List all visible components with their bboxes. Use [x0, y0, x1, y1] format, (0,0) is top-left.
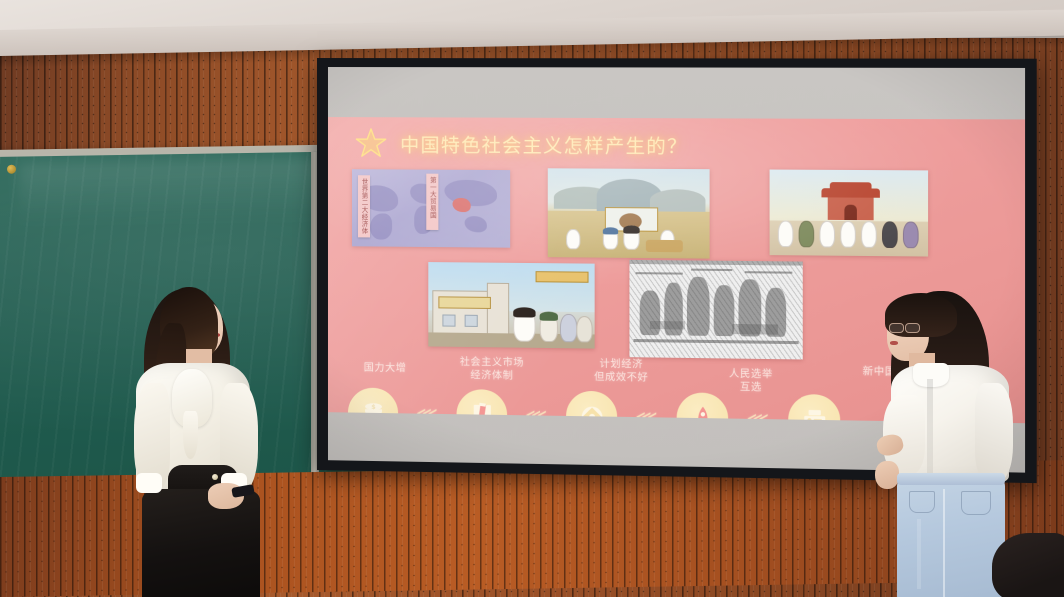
jeans-waistband: [897, 473, 1005, 485]
jeans-seam: [943, 489, 945, 597]
pipeline-arrow-4: ⋘: [741, 410, 772, 424]
slide-title: 中国特色社会主义怎样产生的？: [400, 130, 688, 159]
pipeline-step-5: [788, 394, 840, 423]
lips: [890, 341, 898, 345]
slide-caption-3: 计划经济 但成效不好: [570, 357, 672, 385]
jeans-pocket: [909, 491, 935, 513]
caption-line: 但成效不好: [570, 371, 672, 386]
blouse-bow-tail: [183, 411, 198, 459]
waistband-button: [212, 474, 218, 480]
caption-line: 经济体制: [436, 369, 547, 384]
slide-image-world-map: 世界第二大经济体 第一大贸易国: [352, 169, 510, 248]
slide-image-field-scene: [548, 168, 710, 258]
presenter-left: [120, 283, 285, 597]
slide-image-tiananmen-scene: [770, 170, 929, 257]
gesturing-hand-lower: [875, 461, 899, 489]
caption-line: 国力大增: [340, 361, 430, 375]
glasses-lens-left: [889, 323, 904, 333]
rocket-icon: [688, 404, 716, 423]
village-shop-sign: [438, 296, 491, 309]
slide-title-row: 中国特色社会主义怎样产生的？: [354, 126, 688, 162]
sleeve-cuff: [136, 473, 162, 493]
classroom-scene: 中国特色社会主义怎样产生的？ 世界第二大经济体 第一大贸易国: [0, 0, 1064, 597]
jeans-pocket: [961, 491, 991, 515]
slide-caption-2: 社会主义市场 经济体制: [436, 356, 547, 384]
pipeline-step-1: $: [348, 387, 398, 423]
glasses-lens-right: [905, 323, 920, 333]
pipeline-arrow-1: ⋘: [410, 404, 440, 422]
slide-image-village-enterprise: [428, 262, 594, 349]
svg-text:$: $: [371, 403, 375, 410]
partial-person-corner: [992, 533, 1064, 597]
map-callout-2: 第一大贸易国: [426, 174, 438, 230]
pipeline-arrow-3: ⋘: [629, 408, 660, 423]
blue-jeans: [897, 475, 1005, 597]
five-point-star-icon: [354, 126, 388, 160]
coin-stack-icon: $: [359, 399, 386, 423]
document-pen-icon: [468, 401, 495, 423]
right-arm: [975, 383, 1013, 481]
pipeline-step-2: [457, 389, 508, 423]
pipeline-arrow-2: ⋘: [519, 406, 549, 423]
printing-press-icon: [800, 406, 828, 423]
jeans-highlight: [917, 519, 921, 589]
pipeline-step-3: [566, 391, 617, 424]
village-banner: [536, 271, 589, 283]
pipeline-step-4: [677, 392, 729, 423]
camera-aperture-icon: [578, 402, 606, 423]
slide-image-historical-engraving: [629, 260, 802, 360]
black-skirt: [142, 489, 260, 597]
map-callout-1: 世界第二大经济体: [358, 175, 370, 237]
slide-caption-1: 国力大增: [340, 361, 430, 375]
shirt-placket: [927, 379, 933, 479]
